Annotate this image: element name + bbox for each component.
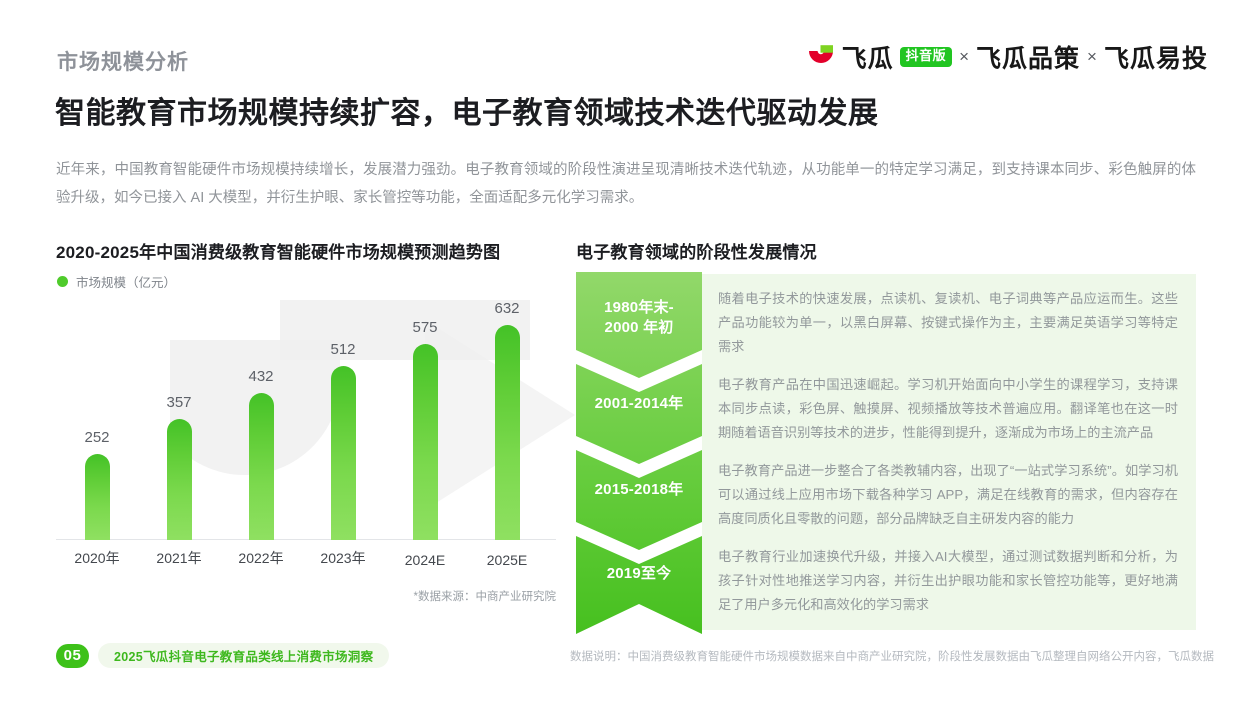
bar[interactable] [167,419,192,540]
bar-group: 632 [466,300,548,540]
page-number: 05 [56,644,89,668]
x-axis-tick-label: 2022年 [220,548,302,568]
bar-value-label: 512 [330,341,355,358]
timeline-stage-text: 电子教育行业加速换代升级，并接入AI大模型，通过测试数据判断和分析，为孩子针对性… [718,545,1178,617]
timeline-stage-card: 电子教育产品在中国迅速崛起。学习机开始面向中小学生的课程学习，支持课本同步点读，… [702,360,1196,458]
timeline-stage-label: 2015-2018年 [576,480,702,500]
report-title: 2025飞瓜抖音电子教育品类线上消费市场洞察 [98,643,389,668]
timeline-stage-label: 2001-2014年 [576,394,702,414]
page-title: 智能教育市场规模持续扩容，电子教育领域技术迭代驱动发展 [55,88,879,132]
page-kicker: 市场规模分析 [57,46,189,76]
bar-group: 575 [384,319,466,540]
brand-product-pince: 飞瓜品策 [976,39,1080,75]
bar[interactable] [331,366,356,540]
chart-source-note: *数据来源：中商产业研究院 [56,588,556,604]
x-axis-tick-label: 2021年 [138,548,220,568]
timeline-section-title: 电子教育领域的阶段性发展情况 [576,238,817,263]
bar-value-label: 575 [412,319,437,336]
timeline-stage-text: 随着电子技术的快速发展，点读机、复读机、电子词典等产品应运而生。这些产品功能较为… [718,287,1178,359]
feigua-logo-icon [806,42,836,72]
bar-value-label: 632 [494,300,519,317]
x-axis-tick-label: 2020年 [56,548,138,568]
footer-data-note: 数据说明：中国消费级教育智能硬件市场规模数据来自中商产业研究院，阶段性发展数据由… [570,648,1214,664]
timeline-stage-card: 随着电子技术的快速发展，点读机、复读机、电子词典等产品应运而生。这些产品功能较为… [702,274,1196,372]
timeline-stage-card: 电子教育产品进一步整合了各类教辅内容，出现了“一站式学习系统”。如学习机可以通过… [702,446,1196,544]
bar[interactable] [249,393,274,540]
brand-name: 飞瓜 [842,39,894,75]
legend-color-dot [57,276,68,287]
timeline: 1980年末-2000 年初2001-2014年2015-2018年2019至今… [576,272,1196,634]
intro-paragraph: 近年来，中国教育智能硬件市场规模持续增长，发展潜力强劲。电子教育领域的阶段性演进… [56,156,1196,212]
bar-group: 432 [220,368,302,540]
bar-chart: 252357432512575632 2020年2021年2022年2023年2… [56,288,556,568]
bar-group: 357 [138,394,220,540]
bar-group: 512 [302,341,384,540]
brand-bar: 飞瓜 抖音版 × 飞瓜品策 × 飞瓜易投 [806,40,1208,74]
x-axis-tick-label: 2023年 [302,548,384,568]
brand-badge-douyin: 抖音版 [900,47,953,66]
bar[interactable] [495,325,520,540]
bar-group: 252 [56,429,138,540]
timeline-stage-label: 1980年末-2000 年初 [576,298,702,338]
chart-section-title: 2020-2025年中国消费级教育智能硬件市场规模预测趋势图 [56,238,500,263]
x-axis-tick-label: 2024E [384,552,466,568]
bar[interactable] [85,454,110,540]
timeline-stage-text: 电子教育产品进一步整合了各类教辅内容，出现了“一站式学习系统”。如学习机可以通过… [718,459,1178,531]
timeline-stage-text: 电子教育产品在中国迅速崛起。学习机开始面向中小学生的课程学习，支持课本同步点读，… [718,373,1178,445]
brand-product-yitou: 飞瓜易投 [1104,39,1208,75]
bar-value-label: 252 [84,429,109,446]
brand-separator-2: × [1086,47,1098,67]
timeline-stage-label: 2019至今 [576,564,702,584]
slide-root: 市场规模分析 智能教育市场规模持续扩容，电子教育领域技术迭代驱动发展 飞瓜 抖音… [0,0,1250,703]
bar-value-label: 357 [166,394,191,411]
timeline-stage-label-line2: 2000 年初 [576,318,702,338]
x-axis-tick-label: 2025E [466,552,548,568]
brand-separator-1: × [958,47,970,67]
footer-badge: 05 2025飞瓜抖音电子教育品类线上消费市场洞察 [56,643,389,668]
bar-value-label: 432 [248,368,273,385]
timeline-stage-card: 电子教育行业加速换代升级，并接入AI大模型，通过测试数据判断和分析，为孩子针对性… [702,532,1196,630]
bar[interactable] [413,344,438,540]
